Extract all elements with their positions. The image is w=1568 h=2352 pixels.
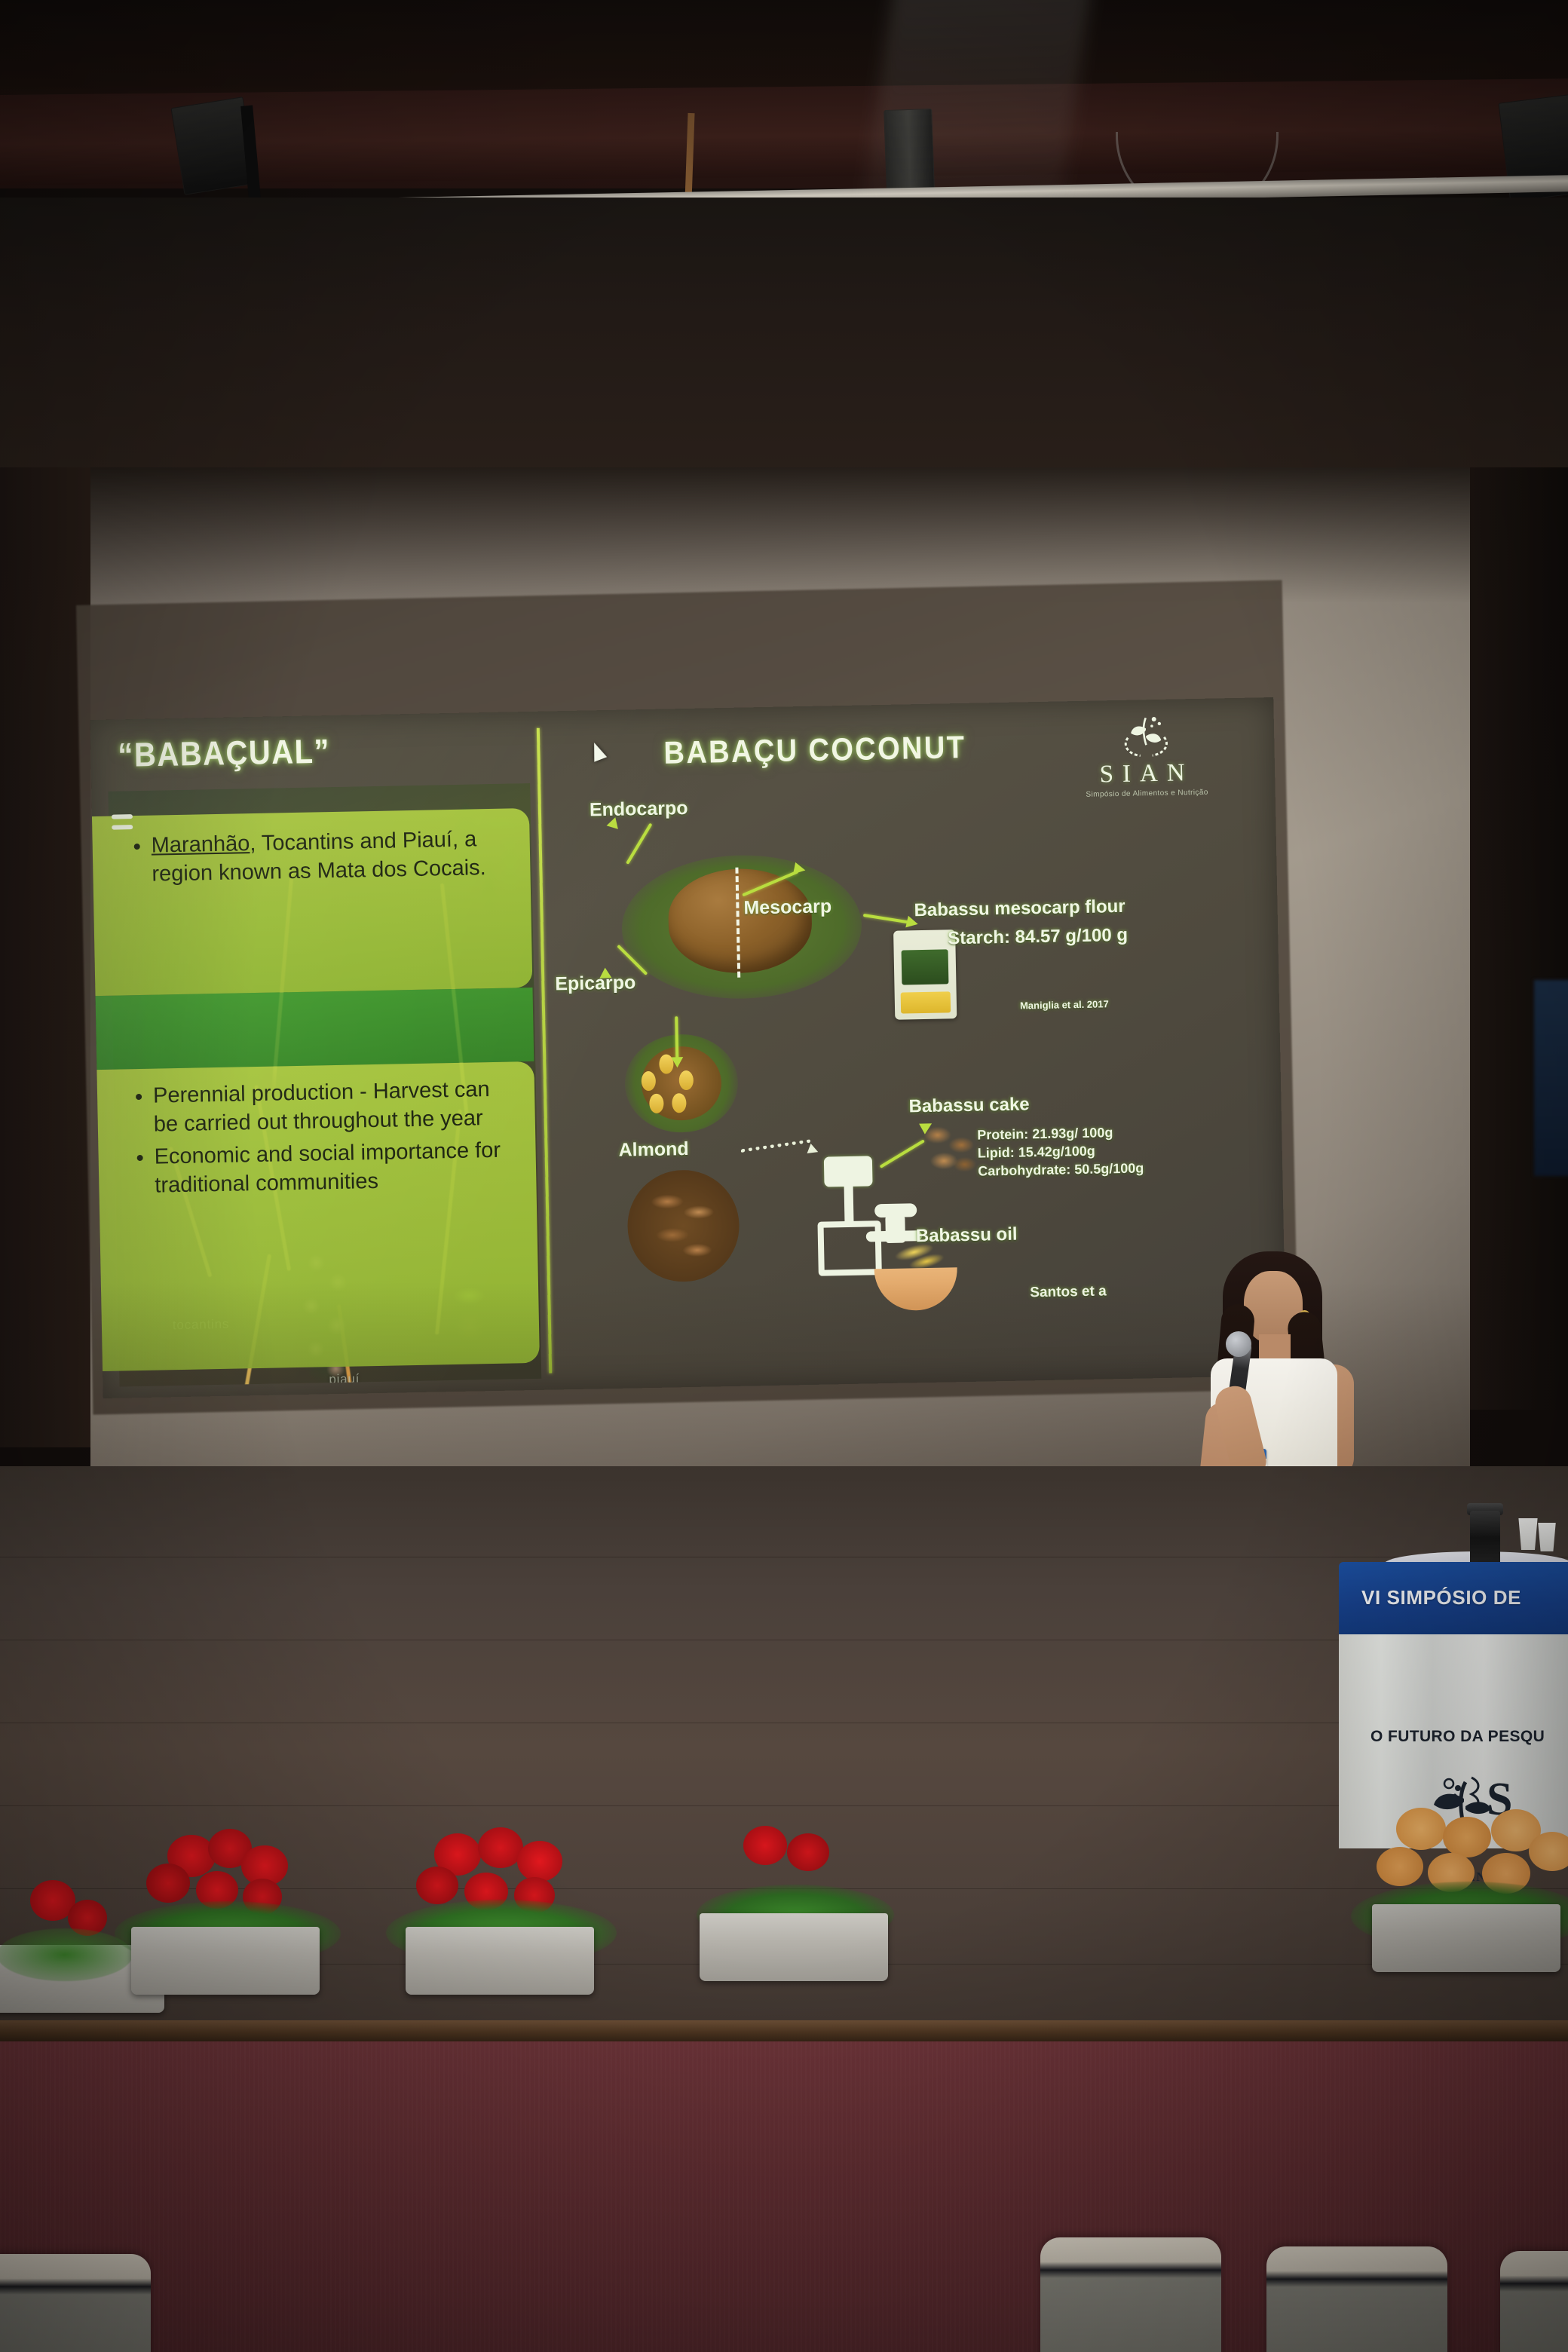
blue-panel: [1534, 980, 1568, 1176]
value-carbohydrate: Carbohydrate: 50.5g/100g: [978, 1159, 1144, 1181]
auditorium-scene: tocantins piauí “BABAÇUAL” Maranhão, Toc…: [0, 0, 1568, 2352]
flower-arrangement: [377, 1829, 626, 2002]
bullet-list-2: Perennial production - Harvest can be ca…: [133, 1076, 509, 1205]
sian-wordmark: SIAN: [1071, 758, 1223, 789]
pouch-label: [902, 949, 949, 985]
coconut-photo: [620, 839, 872, 1017]
mouse-cursor-icon[interactable]: [588, 740, 607, 762]
press-level-line: [112, 814, 133, 819]
arrowhead-icon: [671, 1057, 683, 1067]
banner-subtitle: O FUTURO DA PESQU: [1370, 1728, 1545, 1746]
sian-logo: SIAN Simpósio de Alimentos e Nutrição: [1070, 710, 1223, 807]
pouch-window: [901, 991, 951, 1013]
flower-arrangement: [671, 1815, 920, 1989]
press-body: [817, 1220, 881, 1276]
coconut-body: [667, 868, 813, 975]
planter-box: [131, 1927, 320, 1995]
bullet-underlined-term: Maranhão: [151, 831, 250, 858]
coconut-cross-section: [624, 1034, 739, 1134]
microphone-head: [1226, 1331, 1251, 1357]
bullet-list-1: Maranhão, Tocantins and Piauí, a region …: [131, 825, 486, 893]
nutrition-values: Protein: 21.93g/ 100g Lipid: 15.42g/100g…: [977, 1123, 1144, 1180]
thermos-icon: [1470, 1511, 1500, 1565]
almond-circle: [626, 1169, 740, 1283]
almond-photo: [626, 1169, 740, 1283]
list-item: Perennial production - Harvest can be ca…: [153, 1076, 507, 1139]
slide-title: “BABAÇUAL”: [118, 733, 331, 775]
sian-subtitle: Simpósio de Alimentos e Nutrição: [1072, 788, 1223, 799]
press-level-line: [112, 825, 133, 830]
list-item: Economic and social importance for tradi…: [154, 1137, 508, 1200]
table-with-banner: VI SIMPÓSIO DE O FUTURO DA PESQU S PPGAN: [1339, 1562, 1568, 1848]
auditorium-seat: [1040, 2237, 1221, 2352]
auditorium-seat: [1500, 2251, 1568, 2352]
planter-box: [1372, 1904, 1560, 1972]
babassu-cake-photo: [912, 1116, 988, 1182]
arrowhead-icon: [793, 862, 807, 877]
label-endocarpo: Endocarpo: [590, 798, 688, 822]
right-panel-title: BABAÇU COCONUT: [663, 730, 966, 772]
planter-box: [406, 1927, 594, 1995]
label-epicarpo: Epicarpo: [555, 972, 636, 995]
sian-plant-icon: [1117, 712, 1175, 759]
green-divider-band: [91, 988, 534, 1070]
press-stem: [844, 1185, 854, 1223]
banner-title: VI SIMPÓSIO DE: [1361, 1586, 1521, 1609]
auditorium-seat: [0, 2254, 151, 2352]
planter-box: [700, 1913, 888, 1981]
upper-wall: [0, 198, 1568, 499]
citation-maniglia: Maniglia et al. 2017: [1020, 998, 1109, 1011]
label-mesocarp: Mesocarp: [743, 896, 831, 919]
label-babassu-cake: Babassu cake: [908, 1094, 1030, 1117]
value-starch: Starch: 84.57 g/100 g: [948, 925, 1128, 950]
flower-arrangement: [103, 1829, 351, 2002]
label-babassu-mesocarp-flour: Babassu mesocarp flour: [914, 896, 1125, 921]
dotted-arrow-almond-to-press: [740, 1139, 811, 1155]
arrow-to-cross-section: [675, 1016, 678, 1060]
press-top: [824, 1156, 873, 1187]
stage-edge: [0, 2020, 1568, 2043]
flower-arrangement: [1343, 1806, 1568, 1980]
list-item: Maranhão, Tocantins and Piauí, a region …: [151, 825, 486, 889]
label-babassu-oil: Babassu oil: [916, 1224, 1018, 1248]
banner-blue-band: VI SIMPÓSIO DE: [1339, 1562, 1568, 1634]
auditorium-seat: [1266, 2246, 1447, 2352]
label-almond: Almond: [618, 1138, 689, 1162]
